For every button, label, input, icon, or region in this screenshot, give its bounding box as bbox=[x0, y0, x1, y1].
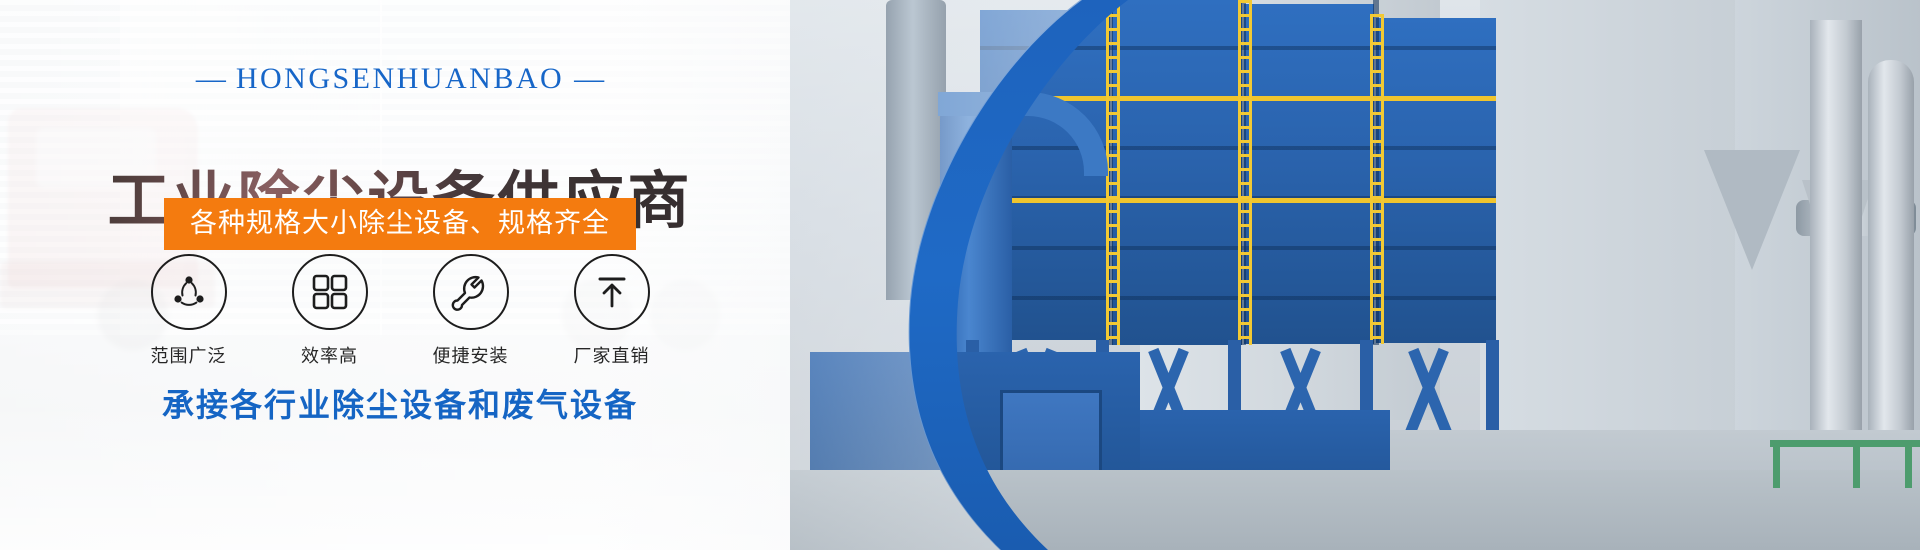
photo-building-b bbox=[1480, 0, 1740, 430]
photo-hopper-cone bbox=[1704, 150, 1800, 270]
dust-collector-photo bbox=[790, 0, 1920, 550]
photo-green-post bbox=[1853, 440, 1860, 488]
photo-ladder bbox=[1238, 0, 1252, 345]
upload-arrow-icon bbox=[593, 273, 631, 311]
feature-icon-circle bbox=[433, 254, 509, 330]
feature-item-installation[interactable]: 便捷安装 bbox=[418, 254, 523, 368]
dash-right-icon: — bbox=[564, 62, 614, 95]
feature-item-coverage[interactable]: 范围广泛 bbox=[136, 254, 241, 368]
photo-ground-front bbox=[790, 470, 1920, 550]
photo-ladder bbox=[1106, 0, 1120, 345]
brand-eyebrow: —HONGSENHUANBAO— bbox=[0, 62, 800, 96]
feature-label: 厂家直销 bbox=[559, 342, 664, 368]
photo-ladder bbox=[1370, 14, 1384, 344]
subtitle-badge: 各种规格大小除尘设备、规格齐全 bbox=[164, 198, 636, 250]
feature-label: 效率高 bbox=[277, 342, 382, 368]
feature-label: 便捷安装 bbox=[418, 342, 523, 368]
grid-squares-icon bbox=[311, 273, 349, 311]
feature-item-factory-direct[interactable]: 厂家直销 bbox=[559, 254, 664, 368]
banner-content: —HONGSENHUANBAO— 工业除尘设备供应商 各种规格大小除尘设备、规格… bbox=[0, 0, 820, 550]
dash-left-icon: — bbox=[186, 62, 236, 95]
feature-icon-circle bbox=[151, 254, 227, 330]
photo-green-post bbox=[1905, 440, 1912, 488]
brand-name: HONGSENHUANBAO bbox=[236, 62, 564, 95]
feature-icon-circle bbox=[292, 254, 368, 330]
tagline: 承接各行业除尘设备和废气设备 bbox=[0, 380, 800, 426]
feature-item-efficiency[interactable]: 效率高 bbox=[277, 254, 382, 368]
share-nodes-icon bbox=[169, 272, 209, 312]
feature-icon-circle bbox=[574, 254, 650, 330]
photo-exhaust-stack bbox=[886, 0, 946, 300]
photo-green-post bbox=[1773, 440, 1780, 488]
photo-green-railing bbox=[1770, 440, 1920, 447]
feature-label: 范围广泛 bbox=[136, 342, 241, 368]
feature-list: 范围广泛 效率高 bbox=[0, 254, 800, 368]
hero-banner: —HONGSENHUANBAO— 工业除尘设备供应商 各种规格大小除尘设备、规格… bbox=[0, 0, 1920, 550]
wrench-icon bbox=[450, 271, 492, 313]
